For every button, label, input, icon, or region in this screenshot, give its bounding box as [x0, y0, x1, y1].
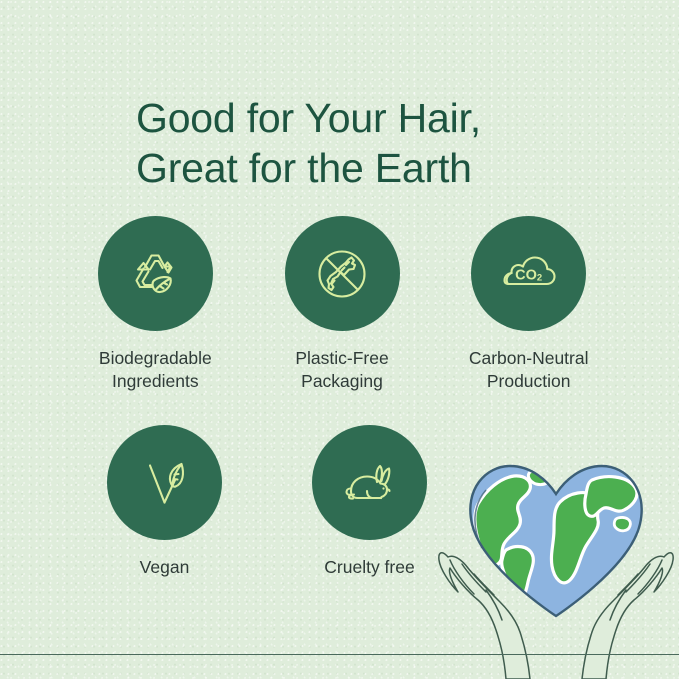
co2-icon-subscript: 2 — [537, 272, 542, 283]
badge-circle — [98, 216, 213, 331]
badge-circle — [312, 425, 427, 540]
no-plastic-bottle-icon — [310, 242, 374, 306]
badge-circle — [107, 425, 222, 540]
badge-vegan[interactable]: Vegan — [62, 425, 267, 579]
oceania — [614, 517, 630, 530]
badge-plastic-free-packaging[interactable]: Plastic-Free Packaging — [249, 216, 436, 394]
badge-carbon-neutral-production[interactable]: CO 2 Carbon-Neutral Production — [435, 216, 622, 394]
ground-line — [0, 654, 679, 655]
badge-circle — [285, 216, 400, 331]
rabbit-icon — [337, 450, 403, 516]
badge-label: Cruelty free — [324, 556, 414, 579]
badge-label: Plastic-Free Packaging — [295, 347, 388, 394]
badge-label: Vegan — [140, 556, 190, 579]
badge-row-1: Biodegradable Ingredients Plastic-Free — [62, 216, 622, 394]
badge-biodegradable-ingredients[interactable]: Biodegradable Ingredients — [62, 216, 249, 394]
badge-label: Biodegradable Ingredients — [99, 347, 212, 394]
co2-cloud-leaf-icon: CO 2 — [496, 241, 562, 307]
co2-icon-text: CO — [515, 267, 537, 283]
badge-label: Carbon-Neutral Production — [469, 347, 589, 394]
vegan-leaf-v-icon — [134, 452, 196, 514]
badge-circle: CO 2 — [471, 216, 586, 331]
heart-earth-in-hands-illustration — [434, 432, 679, 679]
earth-globe — [434, 432, 679, 679]
recycle-leaf-icon — [123, 242, 187, 306]
page-title: Good for Your Hair, Great for the Earth — [136, 93, 656, 193]
